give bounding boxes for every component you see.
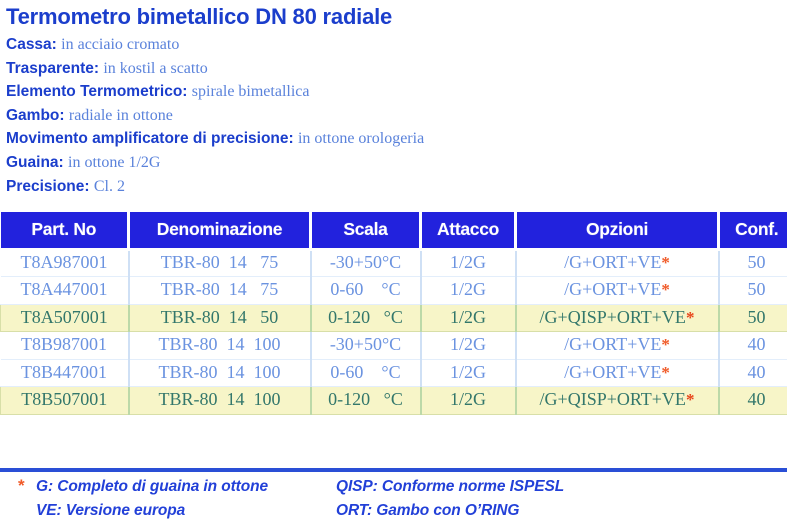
spec-row: Elemento Termometrico: spirale bimetalli… [6,80,787,104]
cell-denominazione: TBR-80 14 100 [129,387,311,415]
product-table-container: Part. No Denominazione Scala Attacco Opz… [0,212,787,415]
opzioni-text: /G+ORT+VE [564,252,661,272]
cell-part-no: T8A987001 [1,249,129,277]
opzioni-text: /G+ORT+VE [564,279,661,299]
cell-attacco: 1/2G [421,249,516,277]
cell-attacco: 1/2G [421,332,516,360]
spec-row: Cassa: in acciaio cromato [6,33,787,57]
table-header-row: Part. No Denominazione Scala Attacco Opz… [1,212,787,249]
cell-conf: 40 [719,359,787,387]
cell-denominazione: TBR-80 14 100 [129,332,311,360]
footnote-marker-icon: * [661,280,670,299]
cell-attacco: 1/2G [421,304,516,332]
cell-scala: 0-60 °C [311,359,421,387]
spec-label: Cassa: [6,36,57,53]
cell-opzioni: /G+ORT+VE* [516,332,719,360]
cell-part-no: T8B447001 [1,359,129,387]
column-header-part-no: Part. No [1,212,129,249]
spec-row: Trasparente: in kostil a scatto [6,57,787,81]
cell-denominazione: TBR-80 14 75 [129,277,311,305]
spec-row: Gambo: radiale in ottone [6,104,787,128]
footnote-row: VE: Versione europa ORT: Gambo con O’RIN… [18,502,787,528]
spec-label: Elemento Termometrico: [6,83,187,100]
cell-conf: 50 [719,304,787,332]
table-bottom-divider [0,468,787,472]
spec-row: Precisione: Cl. 2 [6,175,787,199]
cell-scala: -30+50°C [311,332,421,360]
cell-attacco: 1/2G [421,277,516,305]
column-header-scala: Scala [311,212,421,249]
cell-opzioni: /G+ORT+VE* [516,359,719,387]
footnotes-block: * G: Completo di guaina in ottone QISP: … [0,476,787,528]
cell-scala: 0-120 °C [311,304,421,332]
footnote-marker-icon: * [661,253,670,272]
column-header-denominazione: Denominazione [129,212,311,249]
spec-value: radiale in ottone [69,107,173,124]
cell-part-no: T8B507001 [1,387,129,415]
footnote-g: G: Completo di guaina in ottone [36,478,336,496]
cell-denominazione: TBR-80 14 50 [129,304,311,332]
footnote-marker-icon: * [686,390,695,409]
footnote-qisp: QISP: Conforme norme ISPESL [336,478,564,496]
spec-row: Guaina: in ottone 1/2G [6,151,787,175]
spec-label: Gambo: [6,107,65,124]
cell-conf: 40 [719,387,787,415]
footnote-marker-icon: * [661,335,670,354]
footnote-row: * G: Completo di guaina in ottone QISP: … [18,476,787,502]
cell-opzioni: /G+QISP+ORT+VE* [516,304,719,332]
spec-value: in ottone 1/2G [68,154,160,171]
footnote-ve: VE: Versione europa [36,502,336,520]
cell-denominazione: TBR-80 14 100 [129,359,311,387]
spec-value: Cl. 2 [94,178,125,195]
column-header-attacco: Attacco [421,212,516,249]
table-row: T8B507001 TBR-80 14 100 0-120 °C 1/2G /G… [1,387,787,415]
asterisk-icon: * [18,476,36,496]
cell-conf: 50 [719,277,787,305]
opzioni-text: /G+ORT+VE [564,362,661,382]
cell-scala: 0-60 °C [311,277,421,305]
opzioni-text: /G+QISP+ORT+VE [540,389,686,409]
footnote-marker-icon: * [661,363,670,382]
spec-row: Movimento amplificatore di precisione: i… [6,127,787,151]
spec-value: in ottone orologeria [298,130,424,147]
opzioni-text: /G+ORT+VE [564,334,661,354]
column-header-opzioni: Opzioni [516,212,719,249]
table-header: Part. No Denominazione Scala Attacco Opz… [1,212,787,249]
spec-label: Guaina: [6,154,64,171]
cell-denominazione: TBR-80 14 75 [129,249,311,277]
spec-list: Cassa: in acciaio cromato Trasparente: i… [4,33,787,198]
table-body: T8A987001 TBR-80 14 75 -30+50°C 1/2G /G+… [1,249,787,414]
spec-value: in kostil a scatto [103,60,207,77]
product-spec-block: Termometro bimetallico DN 80 radiale Cas… [0,0,787,198]
spec-label: Trasparente: [6,60,99,77]
cell-scala: -30+50°C [311,249,421,277]
product-table: Part. No Denominazione Scala Attacco Opz… [0,212,787,415]
table-row: T8B987001 TBR-80 14 100 -30+50°C 1/2G /G… [1,332,787,360]
cell-opzioni: /G+ORT+VE* [516,249,719,277]
footnote-ort: ORT: Gambo con O’RING [336,502,519,520]
spec-value: spirale bimetallica [192,83,310,100]
cell-conf: 40 [719,332,787,360]
table-row: T8A507001 TBR-80 14 50 0-120 °C 1/2G /G+… [1,304,787,332]
table-row: T8B447001 TBR-80 14 100 0-60 °C 1/2G /G+… [1,359,787,387]
footnote-marker-icon: * [686,308,695,327]
cell-part-no: T8A507001 [1,304,129,332]
table-row: T8A987001 TBR-80 14 75 -30+50°C 1/2G /G+… [1,249,787,277]
cell-scala: 0-120 °C [311,387,421,415]
cell-part-no: T8B987001 [1,332,129,360]
spec-label: Precisione: [6,178,90,195]
page-title: Termometro bimetallico DN 80 radiale [6,4,787,30]
cell-opzioni: /G+QISP+ORT+VE* [516,387,719,415]
spec-value: in acciaio cromato [61,36,179,53]
cell-opzioni: /G+ORT+VE* [516,277,719,305]
opzioni-text: /G+QISP+ORT+VE [540,307,686,327]
spec-label: Movimento amplificatore di precisione: [6,130,294,147]
cell-part-no: T8A447001 [1,277,129,305]
cell-attacco: 1/2G [421,359,516,387]
cell-conf: 50 [719,249,787,277]
cell-attacco: 1/2G [421,387,516,415]
column-header-conf: Conf. [719,212,787,249]
table-row: T8A447001 TBR-80 14 75 0-60 °C 1/2G /G+O… [1,277,787,305]
